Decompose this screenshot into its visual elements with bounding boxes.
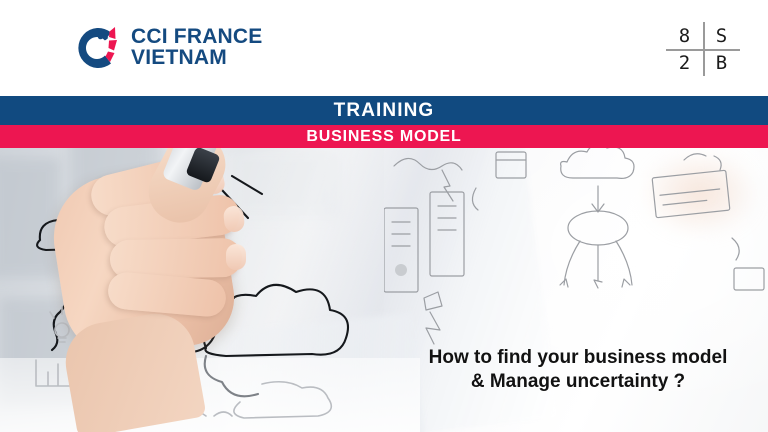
hand-with-marker bbox=[38, 148, 298, 422]
training-label: TRAINING bbox=[334, 100, 435, 122]
hand-nail-2 bbox=[223, 205, 246, 233]
logo-wordmark: CCI FRANCE VIETNAM bbox=[131, 27, 263, 68]
headline-line-2: & Manage uncertainty ? bbox=[392, 370, 764, 394]
poster-body: success How to find your business model bbox=[0, 148, 768, 432]
b2b-cell-top-right: S bbox=[703, 22, 740, 49]
cci-france-vietnam-logo: CCI FRANCE VIETNAM bbox=[70, 22, 263, 74]
poster-header: CCI FRANCE VIETNAM 8 S 2 B bbox=[0, 0, 768, 96]
logo-line-1: CCI FRANCE bbox=[131, 27, 263, 48]
logo-line-2: VIETNAM bbox=[131, 48, 263, 69]
b2b-logo: 8 S 2 B bbox=[666, 22, 740, 76]
headline: How to find your business model & Manage… bbox=[392, 346, 764, 395]
b2b-cell-top-left: 8 bbox=[666, 22, 703, 49]
business-model-label: BUSINESS MODEL bbox=[306, 128, 461, 146]
training-poster: CCI FRANCE VIETNAM 8 S 2 B TRAINING BUSI… bbox=[0, 0, 768, 432]
headline-line-1: How to find your business model bbox=[392, 346, 764, 370]
business-model-banner: BUSINESS MODEL bbox=[0, 125, 768, 148]
b2b-cell-bottom-right: B bbox=[703, 49, 740, 76]
cci-circle-logo-icon bbox=[70, 22, 122, 74]
b2b-cell-bottom-left: 2 bbox=[666, 49, 703, 76]
training-banner: TRAINING bbox=[0, 96, 768, 125]
hand-nail-3 bbox=[226, 244, 246, 270]
